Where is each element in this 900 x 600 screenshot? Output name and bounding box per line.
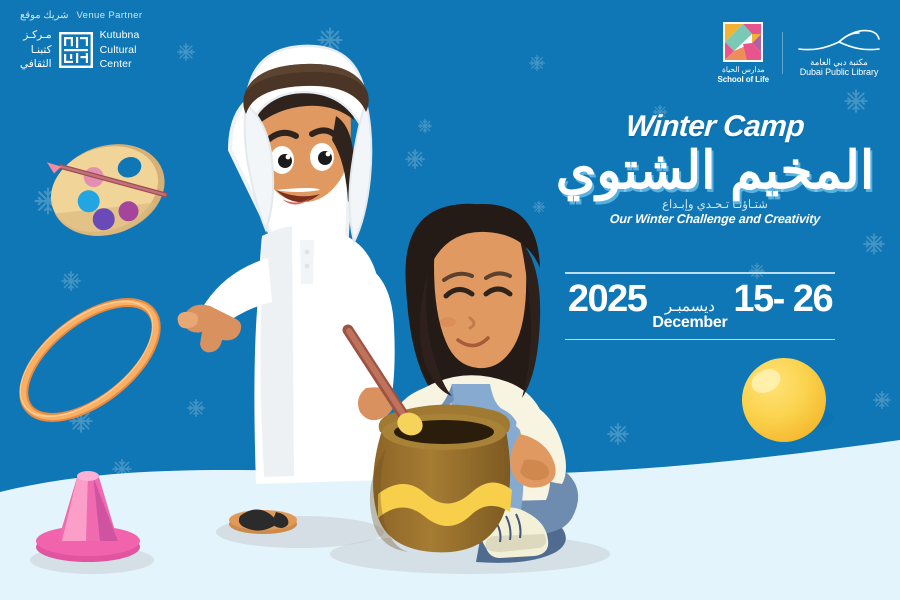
kutubna-ar-line-1: مـركـز xyxy=(20,28,52,42)
clay-pot xyxy=(370,404,512,552)
date-row: 26 -15 ديسمبـر December 2025 xyxy=(565,274,835,339)
kutubna-name-arabic: مـركـز كتبنـا الثقافي xyxy=(20,28,52,71)
title-english: Winter Camp xyxy=(544,112,886,142)
school-of-life-name: مدارس الحياة School of Life xyxy=(718,66,770,84)
date-month: ديسمبـر December xyxy=(652,299,727,331)
date-rule-bottom xyxy=(565,339,835,341)
date-month-en: December xyxy=(652,315,727,331)
winter-camp-poster: شريك موقع Venue Partner مـركـز كتبنـا ال… xyxy=(0,0,900,600)
boy-sandal xyxy=(229,509,297,534)
headline-block: Winter Camp المخيم الشتوي شتـاؤنـا تـحـد… xyxy=(545,112,885,226)
school-of-life-logo[interactable]: مدارس الحياة School of Life xyxy=(718,22,770,84)
dubai-public-library-name: مكتبة دبي العامة Dubai Public Library xyxy=(800,57,879,78)
open-book-icon xyxy=(796,28,882,54)
kutubna-name-english: Kutubna Cultural Center xyxy=(100,28,140,71)
tangram-square-icon xyxy=(723,22,763,62)
date-month-ar: ديسمبـر xyxy=(665,299,715,314)
venue-partner-label-en: Venue Partner xyxy=(76,10,142,21)
dpl-name-en: Dubai Public Library xyxy=(800,67,879,78)
dpl-name-ar: مكتبة دبي العامة xyxy=(800,57,879,67)
venue-partner-label: شريك موقع Venue Partner xyxy=(20,10,250,21)
school-of-life-name-en: School of Life xyxy=(718,75,770,84)
kutubna-en-line-2: Cultural xyxy=(100,43,140,57)
kutubna-en-line-3: Center xyxy=(100,57,140,71)
kutubna-ar-line-3: الثقافي xyxy=(20,57,52,71)
dubai-public-library-logo[interactable]: مكتبة دبي العامة Dubai Public Library xyxy=(796,28,882,78)
subtitle-english: Our Winter Challenge and Creativity xyxy=(545,212,886,226)
title-arabic: المخيم الشتوي xyxy=(545,144,885,199)
kutubna-en-line-1: Kutubna xyxy=(100,28,140,42)
kutubna-logo-lockup[interactable]: مـركـز كتبنـا الثقافي xyxy=(20,28,250,71)
date-days: 26 -15 xyxy=(733,280,832,318)
venue-partner-block: شريك موقع Venue Partner مـركـز كتبنـا ال… xyxy=(20,10,250,71)
date-block: 26 -15 ديسمبـر December 2025 xyxy=(565,272,835,340)
school-of-life-name-ar: مدارس الحياة xyxy=(718,66,770,75)
kutubna-kufic-square-icon xyxy=(59,32,93,68)
boy-character xyxy=(178,46,395,534)
date-year: 2025 xyxy=(568,280,647,318)
logo-divider xyxy=(782,32,783,74)
kutubna-ar-line-2: كتبنـا xyxy=(20,43,52,57)
partner-logo-bar: مدارس الحياة School of Life مكتبة دبي ال… xyxy=(718,22,883,84)
venue-partner-label-ar: شريك موقع xyxy=(20,10,69,21)
